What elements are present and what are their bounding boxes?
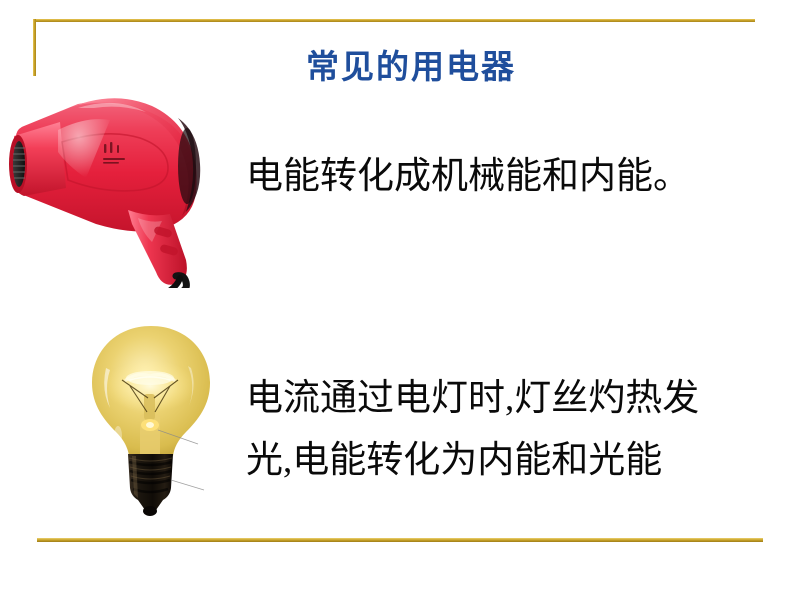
caption-line: 电能转化成机械能和内能。 bbox=[246, 146, 690, 208]
top-accent-rule bbox=[33, 19, 755, 22]
caption-hair-dryer: 电能转化成机械能和内能。 bbox=[246, 146, 690, 208]
slide-canvas: 常见的用电器 bbox=[0, 0, 800, 600]
hair-dryer-image bbox=[0, 82, 236, 288]
bottom-accent-rule bbox=[37, 538, 763, 542]
caption-line: 光,电能转化为内能和光能 bbox=[246, 430, 699, 492]
caption-line: 电流通过电灯时,灯丝灼热发 bbox=[246, 368, 699, 430]
caption-light-bulb: 电流通过电灯时,灯丝灼热发 光,电能转化为内能和光能 bbox=[246, 368, 699, 492]
light-bulb-image bbox=[70, 320, 232, 520]
